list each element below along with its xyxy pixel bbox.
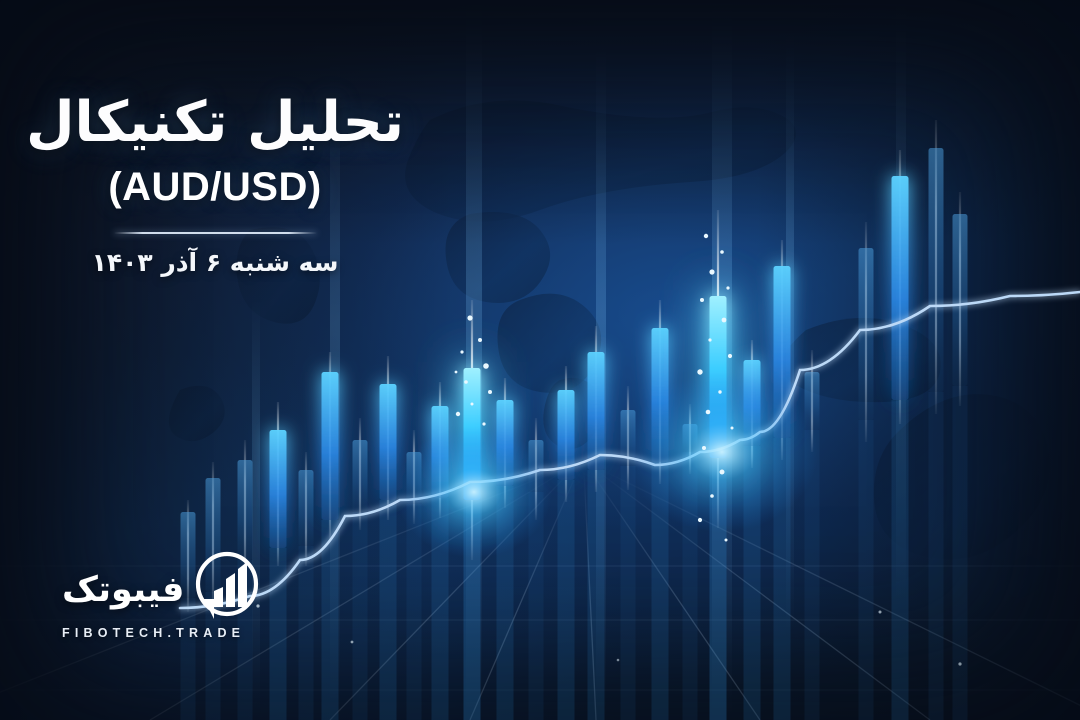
candle-body <box>407 452 422 504</box>
candle-body <box>892 176 909 400</box>
candle-reflection <box>621 466 636 720</box>
candle-body <box>652 328 669 462</box>
banner-canvas: تحلیل تکنیکال (AUD/USD) سه شنبه ۶ آذر ۱۴… <box>0 0 1080 720</box>
candle-body <box>299 470 314 546</box>
candle-reflection <box>380 500 397 720</box>
brand-logo[interactable]: فیبوتک FIBOTECH.TRADE <box>62 552 297 650</box>
candle-reflection <box>407 504 422 720</box>
candle-body <box>322 372 339 520</box>
candle-reflection <box>929 392 944 720</box>
candle-reflection <box>497 486 514 720</box>
candle-body <box>929 148 944 392</box>
publish-date: سه شنبه ۶ آذر ۱۴۰۳ <box>0 248 430 277</box>
candle-reflection <box>464 500 481 720</box>
headline-block: تحلیل تکنیکال (AUD/USD) سه شنبه ۶ آذر ۱۴… <box>0 92 430 277</box>
candle-reflection <box>299 546 314 720</box>
candle-reflection <box>774 438 791 720</box>
candle-body <box>805 372 820 430</box>
brand-name-fa: فیبوتک <box>62 567 184 608</box>
candle-body <box>380 384 397 500</box>
candle-body <box>432 406 449 498</box>
brand-name-en: FIBOTECH.TRADE <box>62 626 234 640</box>
brand-row: فیبوتک <box>62 552 297 622</box>
candle-reflection <box>588 470 605 720</box>
page-title: تحلیل تکنیکال <box>0 92 430 155</box>
candle-reflection <box>683 452 698 720</box>
candle-reflection <box>805 430 820 720</box>
candle-reflection <box>353 512 368 720</box>
title-divider <box>114 232 317 234</box>
candle-reflection <box>432 498 449 720</box>
candle-reflection <box>529 492 544 720</box>
candle-body <box>270 430 287 548</box>
candle-body <box>529 440 544 492</box>
candle-body <box>588 352 605 470</box>
candle-body <box>238 460 253 560</box>
circle-bar-chart-icon <box>190 551 264 623</box>
candle-body <box>353 440 368 512</box>
currency-pair-label: (AUD/USD) <box>0 165 430 210</box>
candle-reflection <box>558 480 575 720</box>
candle-body <box>859 248 874 420</box>
candle-reflection <box>892 400 909 720</box>
candle-body <box>497 400 514 486</box>
candle-reflection <box>744 446 761 720</box>
candle-body <box>683 424 698 452</box>
candle-body <box>710 296 727 458</box>
candle-reflection <box>652 462 669 720</box>
candle-body <box>953 214 968 386</box>
candle-reflection <box>953 386 968 720</box>
candle-body <box>464 368 481 500</box>
candle-reflection <box>710 458 727 720</box>
candle-reflection <box>859 420 874 720</box>
candle-reflection <box>322 520 339 720</box>
